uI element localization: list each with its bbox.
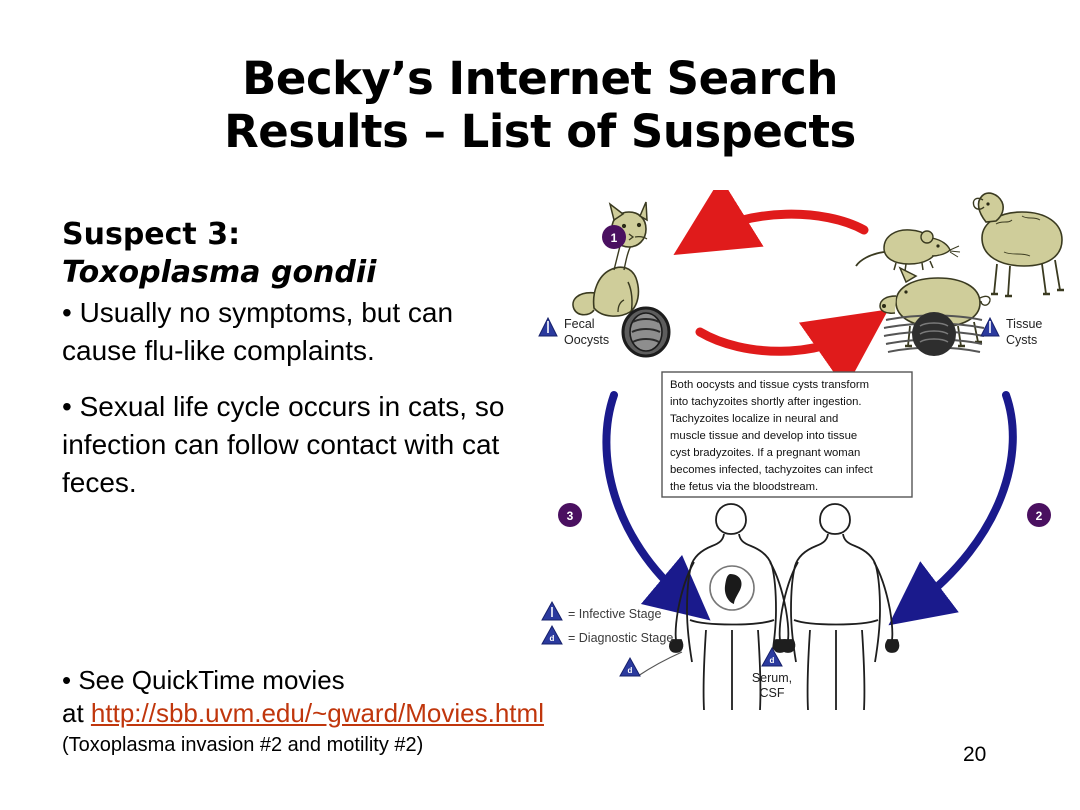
step-circle-2: 2 (1027, 503, 1051, 527)
step-circle-1: 1 (602, 225, 626, 249)
legend-diagnostic-text: = Diagnostic Stage (568, 631, 673, 645)
step-circle-3: 3 (558, 503, 582, 527)
legend-diagnostic-letter: d (550, 634, 555, 643)
textbox-line-2: into tachyzoites shortly after ingestion… (670, 396, 862, 408)
textbox-line-1: Both oocysts and tissue cysts transform (670, 379, 869, 391)
mouse-illustration (856, 230, 960, 271)
step-1-number: 1 (611, 231, 618, 245)
diagram-textbox: Both oocysts and tissue cysts transform … (662, 372, 912, 497)
page-title-line-1: Becky’s Internet Search (70, 52, 1010, 105)
page-title: Becky’s Internet Search Results – List o… (70, 52, 1010, 158)
sheep-illustration (973, 193, 1064, 296)
fetus-triangle-letter: d (628, 666, 633, 675)
cat-illustration (573, 202, 647, 316)
step-2-number: 2 (1036, 509, 1043, 523)
page-title-line-2: Results – List of Suspects (70, 105, 1010, 158)
content-column: Suspect 3: Toxoplasma gondii • Usually n… (62, 216, 532, 502)
tissue-cyst-illustration (884, 312, 984, 356)
textbox-line-6: becomes infected, tachyzoites can infect (670, 464, 874, 476)
note-subtext: (Toxoplasma invasion #2 and motility #2) (62, 732, 672, 758)
red-arrow-to-cat (704, 214, 864, 236)
serum-line-2: CSF (760, 686, 785, 700)
note-link-prefix: at (62, 698, 91, 728)
lifecycle-diagram-image: 1 (534, 190, 1074, 710)
serum-triangle-letter: d (770, 656, 775, 665)
serum-line-1: Serum, (752, 671, 792, 685)
fecal-oocysts-line-1: Fecal (564, 317, 595, 331)
human-illustration (774, 504, 898, 710)
movies-url-link[interactable]: http://sbb.uvm.edu/~gward/Movies.html (91, 698, 544, 728)
blue-arrow-right (914, 395, 1013, 606)
bullet-item-symptoms: • Usually no symptoms, but can cause flu… (62, 294, 532, 370)
suspect-species-name: Toxoplasma gondii (62, 254, 532, 292)
textbox-line-7: the fetus via the bloodstream. (670, 481, 818, 493)
fetus-diagnostic-marker: d (620, 658, 640, 676)
fecal-oocysts-line-2: Oocysts (564, 333, 609, 347)
legend-infective-text: = Infective Stage (568, 607, 662, 621)
tissue-cysts-line-1: Tissue (1006, 317, 1042, 331)
red-arrow-to-prey (700, 330, 859, 351)
textbox-line-3: Tachyzoites localize in neural and (670, 413, 838, 425)
fecal-oocysts-label: Fecal Oocysts (539, 317, 609, 347)
bullet-item-lifecycle: • Sexual life cycle occurs in cats, so i… (62, 388, 532, 502)
textbox-line-5: cyst bradyzoites. If a pregnant woman (670, 447, 860, 459)
step-3-number: 3 (567, 509, 574, 523)
diagram-legend: = Infective Stage d = Diagnostic Stage (542, 602, 673, 645)
slide-page-number: 20 (963, 743, 986, 767)
tissue-cysts-line-2: Cysts (1006, 333, 1037, 347)
suspect-heading: Suspect 3: (62, 216, 532, 254)
serum-csf-label: d Serum, CSF (752, 648, 792, 700)
tissue-cysts-label: Tissue Cysts (981, 317, 1042, 347)
fecal-oocyst-illustration (623, 308, 669, 356)
textbox-line-4: muscle tissue and develop into tissue (670, 430, 857, 442)
